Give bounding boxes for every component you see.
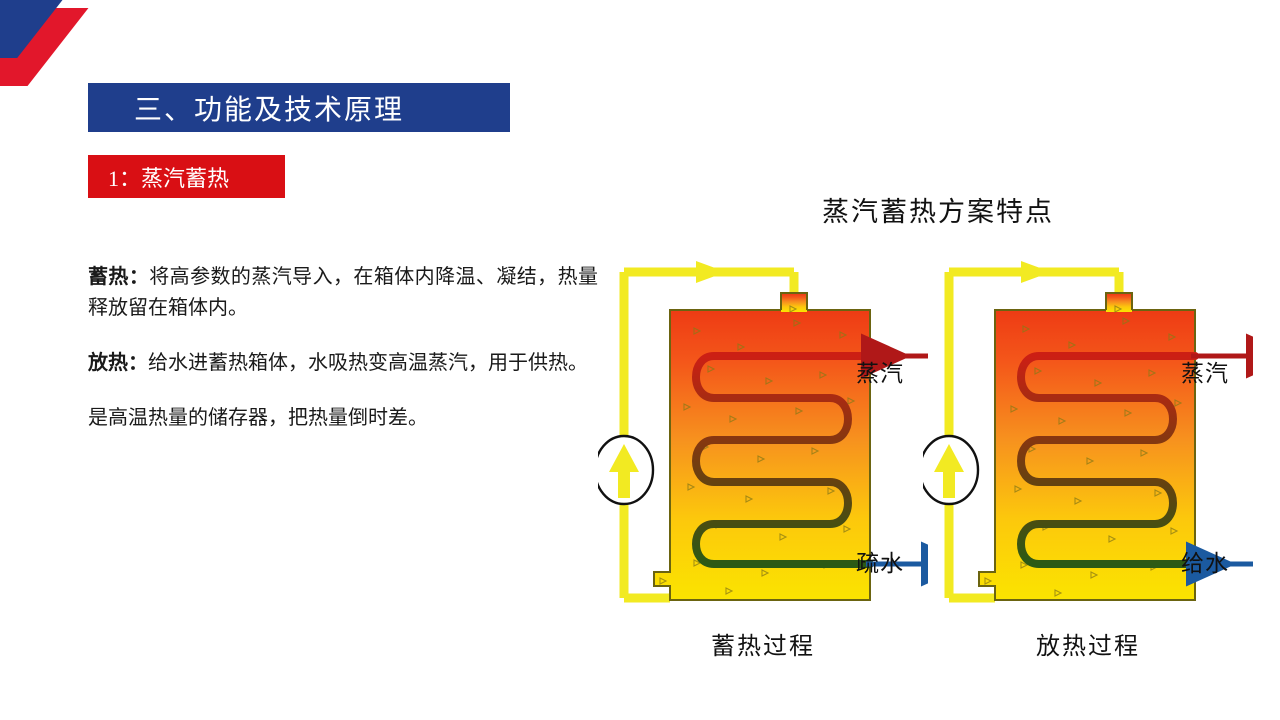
diagram-region: 蒸汽蓄热方案特点 [598, 190, 1278, 670]
slide-root: 三、功能及技术原理 1：蒸汽蓄热 蓄热：将高参数的蒸汽导入，在箱体内降温、凝结，… [0, 0, 1280, 720]
paragraph-storage: 蓄热：将高参数的蒸汽导入，在箱体内降温、凝结，热量释放留在箱体内。 [88, 262, 598, 324]
drain-port-label: 疏水 [856, 544, 904, 578]
feedwater-port-label: 给水 [1181, 544, 1229, 578]
pump-icon [923, 436, 978, 504]
sub-heading-text: 1：蒸汽蓄热 [88, 161, 229, 193]
paragraph-release-lead: 放热： [88, 352, 148, 374]
paragraph-summary-body: 是高温热量的储存器，把热量倒时差。 [88, 407, 428, 429]
paragraph-summary: 是高温热量的储存器，把热量倒时差。 [88, 403, 598, 434]
paragraph-release-body: 给水进蓄热箱体，水吸热变高温蒸汽，用于供热。 [148, 352, 588, 374]
section-heading-text: 三、功能及技术原理 [88, 88, 404, 128]
panel-discharging-caption: 放热过程 [923, 626, 1253, 661]
pipe-flow-arrow-icon [696, 261, 726, 283]
pump-icon [598, 436, 653, 504]
steam-port-label: 蒸汽 [1181, 354, 1229, 388]
paragraph-release: 放热：给水进蓄热箱体，水吸热变高温蒸汽，用于供热。 [88, 348, 598, 379]
pipe-flow-arrow-icon [1021, 261, 1051, 283]
sub-heading-badge: 1：蒸汽蓄热 [88, 155, 285, 198]
storage-tank [654, 293, 870, 600]
storage-tank [979, 293, 1195, 600]
panel-charging-caption: 蓄热过程 [598, 626, 928, 661]
section-heading-bar: 三、功能及技术原理 [88, 83, 510, 132]
panel-charging: 蒸汽 疏水 蓄热过程 [598, 248, 928, 668]
body-text-block: 蓄热：将高参数的蒸汽导入，在箱体内降温、凝结，热量释放留在箱体内。 放热：给水进… [88, 262, 598, 434]
paragraph-storage-lead: 蓄热： [88, 266, 149, 288]
diagram-title: 蒸汽蓄热方案特点 [598, 190, 1278, 229]
steam-port-label: 蒸汽 [856, 354, 904, 388]
panel-discharging: 蒸汽 给水 放热过程 [923, 248, 1253, 668]
paragraph-storage-body: 将高参数的蒸汽导入，在箱体内降温、凝结，热量释放留在箱体内。 [88, 266, 598, 319]
